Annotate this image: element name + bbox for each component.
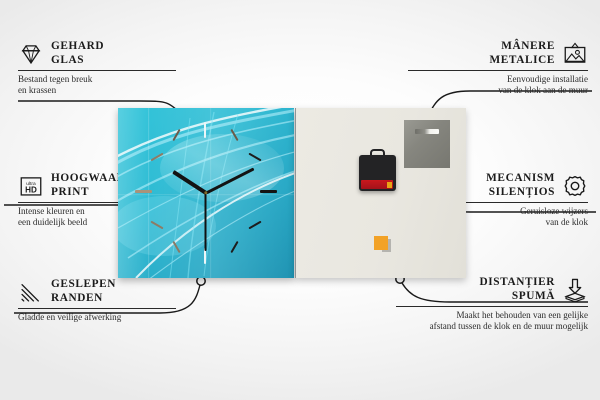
feature-geslepen-randen: GESLEPEN RANDEN Gladde en veilige afwerk… bbox=[18, 278, 196, 323]
feature-description: Gladde en veilige afwerking bbox=[18, 312, 196, 323]
feature-manere-metalice: MÂNERE METALICE Eenvoudige installatie v… bbox=[408, 40, 588, 96]
feature-title: DISTANȚIER SPUMĂ bbox=[480, 276, 555, 303]
feature-description: Bestand tegen breuk en krassen bbox=[18, 74, 196, 97]
metal-hanger-plate bbox=[404, 120, 450, 168]
svg-text:HD: HD bbox=[25, 185, 37, 194]
feature-title: GESLEPEN RANDEN bbox=[51, 278, 116, 305]
feature-header: GEHARD GLAS bbox=[18, 40, 196, 67]
mechanism-bracket bbox=[370, 149, 385, 157]
infographic-canvas: GEHARD GLAS Bestand tegen breuk en krass… bbox=[0, 0, 600, 400]
feature-title: GEHARD GLAS bbox=[51, 40, 104, 67]
ultra-hd-icon: ultra HD bbox=[18, 173, 44, 199]
feature-title: MECANISM SILENȚIOS bbox=[486, 172, 555, 199]
picture-frame-icon bbox=[562, 41, 588, 67]
feature-gehard-glas: GEHARD GLAS Bestand tegen breuk en krass… bbox=[18, 40, 196, 96]
hanger-slot bbox=[415, 129, 439, 134]
clock-front-panel bbox=[118, 108, 294, 278]
clock-tick-3 bbox=[260, 190, 277, 193]
clock-tick-12 bbox=[204, 122, 206, 138]
foam-spacer bbox=[374, 236, 388, 250]
feature-description: Eenvoudige installatie van de klok aan d… bbox=[408, 74, 588, 97]
feature-header: DISTANȚIER SPUMĂ bbox=[396, 276, 588, 303]
feature-divider bbox=[408, 70, 588, 71]
battery-terminal bbox=[387, 182, 392, 188]
clock-mechanism bbox=[359, 155, 396, 191]
feature-title: MÂNERE METALICE bbox=[490, 40, 555, 67]
foam-spacer-icon bbox=[562, 277, 588, 303]
diamond-icon bbox=[18, 41, 44, 67]
feature-header: GESLEPEN RANDEN bbox=[18, 278, 196, 305]
feature-description: Maakt het behouden van een gelijke afsta… bbox=[396, 310, 588, 333]
battery bbox=[361, 180, 393, 189]
gear-icon bbox=[562, 173, 588, 199]
feature-header: MÂNERE METALICE bbox=[408, 40, 588, 67]
feature-divider bbox=[18, 70, 176, 71]
feature-distantier-spuma: DISTANȚIER SPUMĂ Maakt het behouden van … bbox=[396, 276, 588, 332]
clock-tick-9 bbox=[135, 190, 152, 193]
clock-back-panel bbox=[295, 108, 466, 278]
feature-divider bbox=[18, 308, 176, 309]
product-image bbox=[118, 108, 466, 278]
feature-divider bbox=[396, 306, 588, 307]
bevelled-edge-icon bbox=[18, 279, 44, 305]
